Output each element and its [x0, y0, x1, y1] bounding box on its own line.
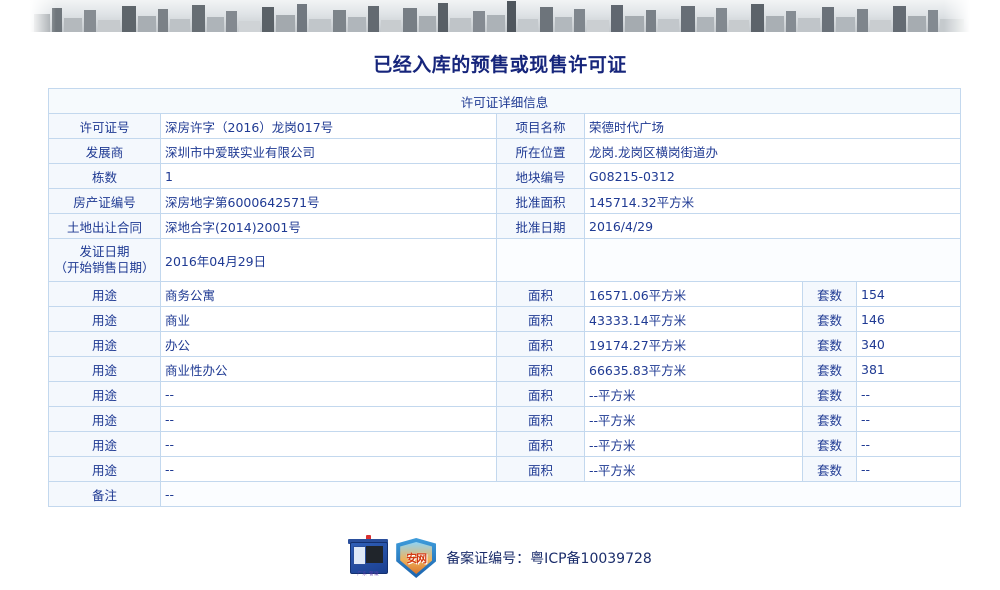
banner-building [368, 6, 379, 32]
row-value-approved-area: 145714.32平方米 [585, 189, 961, 214]
banner-building [98, 20, 120, 32]
table-row-issue-date: 发证日期 （开始销售日期） 2016年04月29日 [49, 239, 961, 282]
row-value-units: 381 [857, 357, 961, 382]
row-label-units: 套数 [803, 457, 857, 482]
banner-building [798, 18, 820, 32]
banner-building [239, 21, 260, 32]
row-value-area: 19174.27平方米 [585, 332, 803, 357]
row-label-area: 面积 [497, 332, 585, 357]
row-value-usage: 商业性办公 [161, 357, 497, 382]
row-label-land-contract: 土地出让合同 [49, 214, 161, 239]
banner-fade-left [30, 0, 56, 32]
banner-building [333, 10, 346, 32]
banner-building [587, 20, 609, 32]
police-officer [366, 546, 383, 563]
row-label-usage: 用途 [49, 432, 161, 457]
row-value-units: 146 [857, 307, 961, 332]
table-row: 用途 -- 面积 --平方米 套数 -- [49, 407, 961, 432]
footer: 广东·警徽 安网 备案证编号：粤ICP备10039728 [0, 536, 1000, 580]
banner-building [64, 18, 82, 32]
row-label-area: 面积 [497, 407, 585, 432]
banner-building [419, 16, 436, 32]
banner-building [170, 19, 190, 32]
row-value-usage: -- [161, 382, 497, 407]
row-value-permit-no: 深房许字（2016）龙岗017号 [161, 114, 497, 139]
row-label-area: 面积 [497, 282, 585, 307]
row-label-developer: 发展商 [49, 139, 161, 164]
row-label-usage: 用途 [49, 282, 161, 307]
table-title-cell: 许可证详细信息 [49, 89, 961, 114]
banner-building [84, 10, 96, 32]
banner-building [381, 20, 401, 32]
row-value-area: 16571.06平方米 [585, 282, 803, 307]
banner-building [681, 6, 695, 32]
banner-building [450, 18, 471, 32]
banner-building [403, 8, 417, 32]
banner-building [555, 17, 572, 32]
table-row: 用途 商业 面积 43333.14平方米 套数 146 [49, 307, 961, 332]
row-label-usage: 用途 [49, 407, 161, 432]
row-value-building-count: 1 [161, 164, 497, 189]
police-badge-caption: 广东·警徽 [348, 572, 388, 578]
row-value-units: -- [857, 407, 961, 432]
banner-building [138, 16, 156, 32]
row-value-usage: -- [161, 457, 497, 482]
row-label-permit-no: 许可证号 [49, 114, 161, 139]
issue-row-empty-label [497, 239, 585, 282]
row-label-units: 套数 [803, 282, 857, 307]
banner-building [822, 7, 834, 32]
row-value-land-contract: 深地合字(2014)2001号 [161, 214, 497, 239]
table-row: 房产证编号 深房地字第6000642571号 批准面积 145714.32平方米 [49, 189, 961, 214]
banner-building [297, 4, 307, 32]
police-badge-icon[interactable]: 广东·警徽 [348, 536, 390, 580]
row-value-land-parcel-no: G08215-0312 [585, 164, 961, 189]
row-label-project-name: 项目名称 [497, 114, 585, 139]
table-row: 许可证号 深房许字（2016）龙岗017号 项目名称 荣德时代广场 [49, 114, 961, 139]
banner-building [611, 5, 623, 32]
banner-building [262, 7, 274, 32]
banner-building [309, 19, 331, 32]
row-label-usage: 用途 [49, 382, 161, 407]
row-label-units: 套数 [803, 407, 857, 432]
row-label-units: 套数 [803, 332, 857, 357]
banner-building [729, 20, 749, 32]
row-value-area: --平方米 [585, 382, 803, 407]
row-value-issue-date: 2016年04月29日 [161, 239, 497, 282]
banner-building [158, 9, 168, 32]
row-value-approval-date: 2016/4/29 [585, 214, 961, 239]
row-label-units: 套数 [803, 382, 857, 407]
table-row: 土地出让合同 深地合字(2014)2001号 批准日期 2016/4/29 [49, 214, 961, 239]
row-label-area: 面积 [497, 457, 585, 482]
banner-building [348, 17, 366, 32]
banner-building [857, 9, 868, 32]
row-label-area: 面积 [497, 307, 585, 332]
row-value-usage: 办公 [161, 332, 497, 357]
issue-row-empty-value [585, 239, 961, 282]
row-label-usage: 用途 [49, 307, 161, 332]
row-value-units: -- [857, 432, 961, 457]
网络安全-shield-icon[interactable]: 安网 [396, 536, 436, 580]
row-label-units: 套数 [803, 357, 857, 382]
row-value-location: 龙岗.龙岗区横岗街道办 [585, 139, 961, 164]
row-label-area: 面积 [497, 432, 585, 457]
banner-building [473, 11, 485, 32]
banner-building [870, 20, 891, 32]
row-value-usage: 商务公寓 [161, 282, 497, 307]
row-label-usage: 用途 [49, 457, 161, 482]
row-label-remark: 备注 [49, 482, 161, 507]
banner-building [207, 17, 224, 32]
row-value-project-name: 荣德时代广场 [585, 114, 961, 139]
banner-building [716, 8, 727, 32]
row-label-location: 所在位置 [497, 139, 585, 164]
row-label-usage: 用途 [49, 332, 161, 357]
table-row: 用途 -- 面积 --平方米 套数 -- [49, 457, 961, 482]
row-value-units: -- [857, 457, 961, 482]
banner-building [518, 19, 538, 32]
banner-building [786, 11, 796, 32]
banner-building [487, 15, 505, 32]
row-value-units: -- [857, 382, 961, 407]
permit-detail-table: 许可证详细信息 许可证号 深房许字（2016）龙岗017号 项目名称 荣德时代广… [48, 88, 961, 507]
row-value-area: 43333.14平方米 [585, 307, 803, 332]
banner-building [658, 19, 679, 32]
row-value-property-cert-no: 深房地字第6000642571号 [161, 189, 497, 214]
table-row: 用途 商务公寓 面积 16571.06平方米 套数 154 [49, 282, 961, 307]
banner-building [908, 16, 926, 32]
banner-building [122, 6, 136, 32]
banner-building [192, 5, 205, 32]
banner-building [625, 16, 644, 32]
table-row: 用途 -- 面积 --平方米 套数 -- [49, 432, 961, 457]
banner-building [276, 15, 295, 32]
banner-building [751, 4, 764, 32]
table-row-remark: 备注 -- [49, 482, 961, 507]
row-label-building-count: 栋数 [49, 164, 161, 189]
row-label-area: 面积 [497, 382, 585, 407]
row-value-units: 154 [857, 282, 961, 307]
banner-building [438, 3, 448, 32]
row-label-units: 套数 [803, 307, 857, 332]
row-value-usage: 商业 [161, 307, 497, 332]
row-label-property-cert-no: 房产证编号 [49, 189, 161, 214]
row-value-remark: -- [161, 482, 961, 507]
banner-building [507, 1, 516, 32]
banner-building [697, 17, 714, 32]
table-row: 用途 商业性办公 面积 66635.83平方米 套数 381 [49, 357, 961, 382]
row-value-area: --平方米 [585, 407, 803, 432]
banner-fade-right [944, 0, 970, 32]
row-label-units: 套数 [803, 432, 857, 457]
banner-building [766, 16, 784, 32]
banner-building [646, 10, 656, 32]
banner-building [836, 17, 855, 32]
row-label-issue-date: 发证日期 （开始销售日期） [49, 239, 161, 282]
icp-registration-text: 备案证编号：粤ICP备10039728 [446, 548, 652, 568]
table-row: 栋数 1 地块编号 G08215-0312 [49, 164, 961, 189]
row-label-usage: 用途 [49, 357, 161, 382]
row-label-land-parcel-no: 地块编号 [497, 164, 585, 189]
row-label-approval-date: 批准日期 [497, 214, 585, 239]
banner-building [893, 6, 906, 32]
banner-building [226, 11, 237, 32]
issue-date-label-line1: 发证日期 [53, 244, 156, 260]
row-value-area: --平方米 [585, 457, 803, 482]
table-row: 用途 -- 面积 --平方米 套数 -- [49, 382, 961, 407]
page-title: 已经入库的预售或现售许可证 [0, 50, 1000, 77]
issue-date-label-line2: （开始销售日期） [53, 260, 156, 276]
banner-building [928, 10, 938, 32]
permit-detail-table-wrapper: 许可证详细信息 许可证号 深房许字（2016）龙岗017号 项目名称 荣德时代广… [48, 88, 960, 507]
row-label-approved-area: 批准面积 [497, 189, 585, 214]
city-skyline-banner [30, 0, 970, 32]
row-value-area: 66635.83平方米 [585, 357, 803, 382]
table-row: 用途 办公 面积 19174.27平方米 套数 340 [49, 332, 961, 357]
row-value-usage: -- [161, 432, 497, 457]
police-window [353, 546, 366, 565]
shield-label: 安网 [396, 550, 436, 566]
table-row: 发展商 深圳市中爱联实业有限公司 所在位置 龙岗.龙岗区横岗街道办 [49, 139, 961, 164]
table-header-row: 许可证详细信息 [49, 89, 961, 114]
row-value-usage: -- [161, 407, 497, 432]
row-value-area: --平方米 [585, 432, 803, 457]
banner-building [540, 7, 553, 32]
banner-building [574, 9, 585, 32]
row-label-area: 面积 [497, 357, 585, 382]
row-value-units: 340 [857, 332, 961, 357]
row-value-developer: 深圳市中爱联实业有限公司 [161, 139, 497, 164]
